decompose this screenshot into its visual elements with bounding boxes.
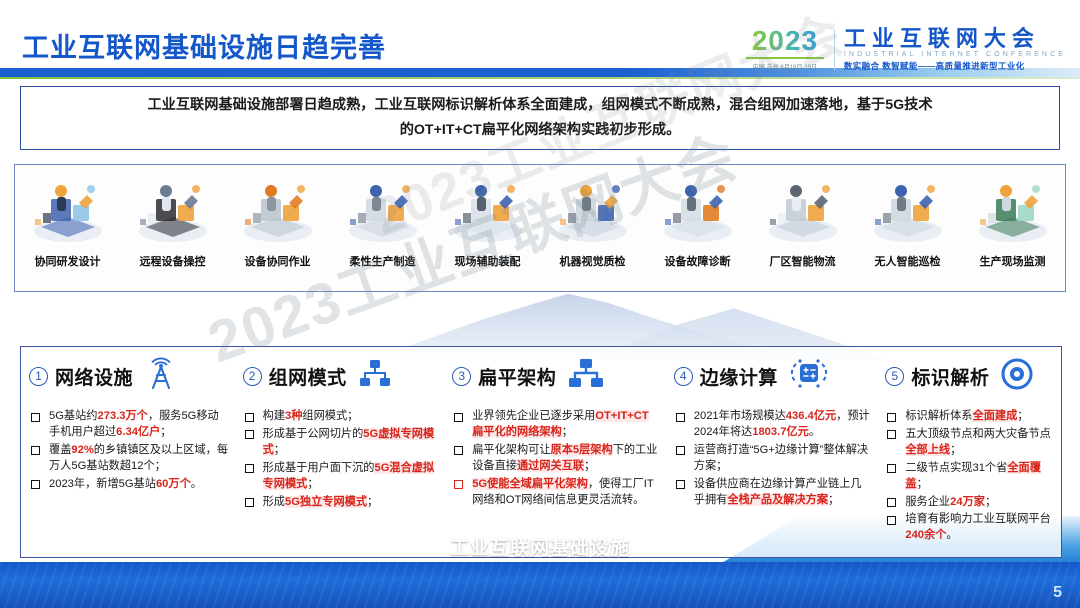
bullet-text-segment: 形成基于公网切片的 <box>263 428 364 440</box>
bullet-text-segment: 。 <box>946 529 957 541</box>
footer-band <box>0 562 1080 608</box>
bullet-text-segment: 全栈产品及解决方案 <box>727 494 828 506</box>
bullet-text-segment: ； <box>367 496 378 508</box>
column-header: 2组网模式 <box>243 355 439 397</box>
robot-collaboration-illustration <box>231 169 325 249</box>
bullet-item: 形成基于用户面下沉的5G混合虚拟专网模式； <box>243 461 439 493</box>
bullet-text-segment: ； <box>584 460 595 472</box>
edge-computing-icon <box>789 356 829 397</box>
bullet-text-segment: ； <box>950 444 961 456</box>
conference-logo: 2023 中国·苏州 8月18日-19日 工业互联网大会 INDUSTRIAL … <box>746 27 1066 72</box>
vr-design-illustration <box>21 169 115 249</box>
bullet-text-segment: 273.3万个 <box>98 410 148 422</box>
bullet-text-segment: ； <box>985 496 996 508</box>
logo-slogan: 数实融合 数智赋能——高质量推进新型工业化 <box>844 60 1066 72</box>
bullet-text-segment: 五大顶级节点和两大灾备节点 <box>905 428 1050 440</box>
bullet-text-segment: 业界领先企业已逐步采用 <box>472 410 595 422</box>
column-bullet-list: 业界领先企业已逐步采用OT+IT+CT扁平化的网络架构；扁平化架构可让原本5层架… <box>452 409 660 508</box>
bullet-text-segment: 构建 <box>263 410 285 422</box>
column-header: 5标识解析 <box>885 355 1055 397</box>
bullet-text-segment: ； <box>307 478 318 490</box>
panel-column-2: 2组网模式 构建3种组网模式；形成基于公网切片的5G虚拟专网模式；形成基于用户面… <box>235 347 445 557</box>
bullet-text-segment: 6.34亿户 <box>116 426 160 438</box>
footer-section-label: 工业互联网基础设施 <box>450 533 630 560</box>
bullet-text-segment: 436.4亿元 <box>786 410 836 422</box>
machine-vision-illustration <box>546 169 640 249</box>
bullet-item: 2023年，新增5G基站60万个。 <box>29 477 229 493</box>
bullet-text-segment: 240余个 <box>905 529 946 541</box>
bullet-text-segment: ； <box>274 444 285 456</box>
bullet-text-segment: ； <box>562 426 573 438</box>
bullet-item: 五大顶级节点和两大灾备节点全部上线； <box>885 427 1055 459</box>
logo-year: 2023 <box>752 27 818 55</box>
network-topology-icon <box>358 357 392 396</box>
slide-root: 工业互联网基础设施日趋完善 2023 中国·苏州 8月18日-19日 工业互联网… <box>0 0 1080 608</box>
bullet-text-segment: ； <box>917 478 928 490</box>
bullet-text-segment: 60万个 <box>156 478 191 490</box>
bullet-item: 覆盖92%的乡镇镇区及以上区域，每万人5G基站数超12个； <box>29 443 229 475</box>
smart-logistics-illustration <box>756 169 850 249</box>
bullet-item: 运营商打造“5G+边缘计算”整体解决方案； <box>674 443 872 475</box>
bullet-text-segment: 。 <box>191 478 202 490</box>
flexible-manufacturing-illustration <box>336 169 430 249</box>
panel-column-3: 3扁平架构 业界领先企业已逐步采用OT+IT+CT扁平化的网络架构；扁平化架构可… <box>444 347 666 557</box>
assembly-assist-illustration <box>441 169 535 249</box>
column-number-badge: 5 <box>885 367 904 386</box>
column-number-badge: 2 <box>243 367 262 386</box>
column-bullet-list: 标识解析体系全面建成；五大顶级节点和两大灾备节点全部上线；二级节点实现31个省全… <box>885 409 1055 544</box>
bullet-text-segment: 3种 <box>285 410 302 422</box>
bullet-text-segment: 全部上线 <box>905 444 950 456</box>
column-title: 标识解析 <box>911 363 989 390</box>
logo-chinese-name: 工业互联网大会 <box>844 27 1066 50</box>
scenario-cell: 无人智能巡检 <box>855 165 960 291</box>
scenario-caption: 设备协同作业 <box>245 253 311 269</box>
bullet-text-segment: 运营商打造“5G+边缘计算”整体解决方案； <box>694 444 868 472</box>
autonomous-inspection-illustration <box>861 169 955 249</box>
logo-year-block: 2023 中国·苏州 8月18日-19日 <box>746 27 834 71</box>
bullet-text-segment: 5G独立专网模式 <box>285 496 367 508</box>
bullet-text-segment: 全面建成 <box>973 410 1018 422</box>
scenario-caption: 协同研发设计 <box>35 253 101 269</box>
column-header: 3扁平架构 <box>452 355 660 397</box>
bullet-text-segment: ； <box>160 426 171 438</box>
scenario-cell: 设备故障诊断 <box>645 165 750 291</box>
bullet-text-segment: ； <box>828 494 839 506</box>
bullet-item: 5G使能全域扁平化架构，使得工厂IT网络和OT网络间信息更灵活流转。 <box>452 477 660 509</box>
bullet-text-segment: 服务企业 <box>905 496 950 508</box>
bullet-item: 扁平化架构可让原本5层架构下的工业设备直接通过网关互联； <box>452 443 660 475</box>
remote-control-illustration <box>126 169 220 249</box>
bullet-item: 业界领先企业已逐步采用OT+IT+CT扁平化的网络架构； <box>452 409 660 441</box>
scenario-cell: 设备协同作业 <box>225 165 330 291</box>
bullet-item: 二级节点实现31个省全面覆盖； <box>885 461 1055 493</box>
scenario-cell: 协同研发设计 <box>15 165 120 291</box>
scenario-caption: 无人智能巡检 <box>875 253 941 269</box>
flat-architecture-icon <box>567 357 605 396</box>
scenario-strip: 协同研发设计 远程设备操控 设备协同作业 柔性生产制造 <box>14 164 1066 292</box>
bullet-item: 设备供应商在边缘计算产业链上几乎拥有全栈产品及解决方案； <box>674 477 872 509</box>
column-number-badge: 1 <box>29 367 48 386</box>
panel-column-5: 5标识解析 标识解析体系全面建成；五大顶级节点和两大灾备节点全部上线；二级节点实… <box>877 347 1061 557</box>
radio-tower-icon <box>144 357 178 396</box>
bullet-item: 构建3种组网模式； <box>243 409 439 425</box>
production-monitoring-illustration <box>966 169 1060 249</box>
bullet-item: 形成基于公网切片的5G虚拟专网模式； <box>243 427 439 459</box>
panel-column-4: 4边缘计算 2021年市场规模达436.4亿元，预计2024年将达1803.7亿… <box>666 347 878 557</box>
scenario-caption: 设备故障诊断 <box>665 253 731 269</box>
page-title: 工业互联网基础设施日趋完善 <box>22 26 386 65</box>
bullet-item: 标识解析体系全面建成； <box>885 409 1055 425</box>
bullet-text-segment: 通过网关互联 <box>517 460 584 472</box>
logo-divider <box>834 29 835 70</box>
bullet-text-segment: 组网模式； <box>302 410 358 422</box>
scenario-caption: 柔性生产制造 <box>350 253 416 269</box>
column-title: 边缘计算 <box>700 363 778 390</box>
column-title: 扁平架构 <box>478 363 556 390</box>
bullet-item: 形成5G独立专网模式； <box>243 495 439 511</box>
column-header: 1网络设施 <box>29 355 229 397</box>
column-title: 网络设施 <box>55 363 133 390</box>
bullet-text-segment: 92% <box>71 444 93 456</box>
identifier-resolution-icon <box>1000 357 1034 396</box>
bullet-item: 2021年市场规模达436.4亿元，预计2024年将达1803.7亿元。 <box>674 409 872 441</box>
column-bullet-list: 2021年市场规模达436.4亿元，预计2024年将达1803.7亿元。运营商打… <box>674 409 872 508</box>
header-divider-green-line <box>0 77 1080 79</box>
bullet-text-segment: 24万家 <box>950 496 985 508</box>
bullet-text-segment: 5G基站约 <box>49 410 98 422</box>
bullet-text-segment: 2021年市场规模达 <box>694 410 786 422</box>
logo-location: 中国·苏州 8月18日-19日 <box>753 62 817 71</box>
bullet-text-segment: 1803.7亿元 <box>752 426 809 438</box>
column-header: 4边缘计算 <box>674 355 872 397</box>
infrastructure-panel: 1网络设施 5G基站约273.3万个，服务5G移动手机用户超过6.34亿户；覆盖… <box>20 346 1062 558</box>
bullet-text-segment: 培育有影响力工业互联网平台 <box>905 513 1050 525</box>
scenario-cell: 柔性生产制造 <box>330 165 435 291</box>
page-number: 5 <box>1053 584 1062 602</box>
scenario-cell: 生产现场监测 <box>960 165 1065 291</box>
scenario-caption: 现场辅助装配 <box>455 253 521 269</box>
column-title: 组网模式 <box>269 363 347 390</box>
logo-name-block: 工业互联网大会 INDUSTRIAL INTERNET CONFERENCE 数… <box>844 27 1066 72</box>
logo-underline <box>746 57 824 59</box>
scenario-caption: 远程设备操控 <box>140 253 206 269</box>
column-bullet-list: 构建3种组网模式；形成基于公网切片的5G虚拟专网模式；形成基于用户面下沉的5G混… <box>243 409 439 510</box>
scenario-caption: 生产现场监测 <box>980 253 1046 269</box>
lead-line-1: 工业互联网基础设施部署日趋成熟，工业互联网标识解析体系全面建成，组网模式不断成熟… <box>147 93 932 118</box>
bullet-text-segment: 5G使能全域扁平化架构 <box>472 478 588 490</box>
bullet-item: 服务企业24万家； <box>885 495 1055 511</box>
lead-summary-box: 工业互联网基础设施部署日趋成熟，工业互联网标识解析体系全面建成，组网模式不断成熟… <box>20 86 1060 150</box>
lead-line-2: 的OT+IT+CT扁平化网络架构实践初步形成。 <box>400 118 681 143</box>
bullet-text-segment: 形成 <box>263 496 285 508</box>
bullet-text-segment: 覆盖 <box>49 444 71 456</box>
scenario-cell: 厂区智能物流 <box>750 165 855 291</box>
bullet-item: 5G基站约273.3万个，服务5G移动手机用户超过6.34亿户； <box>29 409 229 441</box>
bullet-text-segment: 原本5层架构 <box>551 444 613 456</box>
bullet-text-segment: ； <box>1017 410 1028 422</box>
bullet-text-segment: 标识解析体系 <box>905 410 972 422</box>
scenario-caption: 机器视觉质检 <box>560 253 626 269</box>
bullet-text-segment: 2023年，新增5G基站 <box>49 478 156 490</box>
scenario-cell: 现场辅助装配 <box>435 165 540 291</box>
logo-english-name: INDUSTRIAL INTERNET CONFERENCE <box>844 51 1066 58</box>
bullet-item: 培育有影响力工业互联网平台240余个。 <box>885 512 1055 544</box>
scenario-cell: 远程设备操控 <box>120 165 225 291</box>
column-number-badge: 3 <box>452 367 471 386</box>
scenario-caption: 厂区智能物流 <box>770 253 836 269</box>
bullet-text-segment: 扁平化架构可让 <box>472 444 550 456</box>
bullet-text-segment: 。 <box>809 426 820 438</box>
column-number-badge: 4 <box>674 367 693 386</box>
bullet-text-segment: 二级节点实现31个省 <box>905 462 1007 474</box>
scenario-cell: 机器视觉质检 <box>540 165 645 291</box>
panel-column-1: 1网络设施 5G基站约273.3万个，服务5G移动手机用户超过6.34亿户；覆盖… <box>21 347 235 557</box>
fault-diagnosis-illustration <box>651 169 745 249</box>
bullet-text-segment: 形成基于用户面下沉的 <box>263 462 375 474</box>
column-bullet-list: 5G基站约273.3万个，服务5G移动手机用户超过6.34亿户；覆盖92%的乡镇… <box>29 409 229 493</box>
